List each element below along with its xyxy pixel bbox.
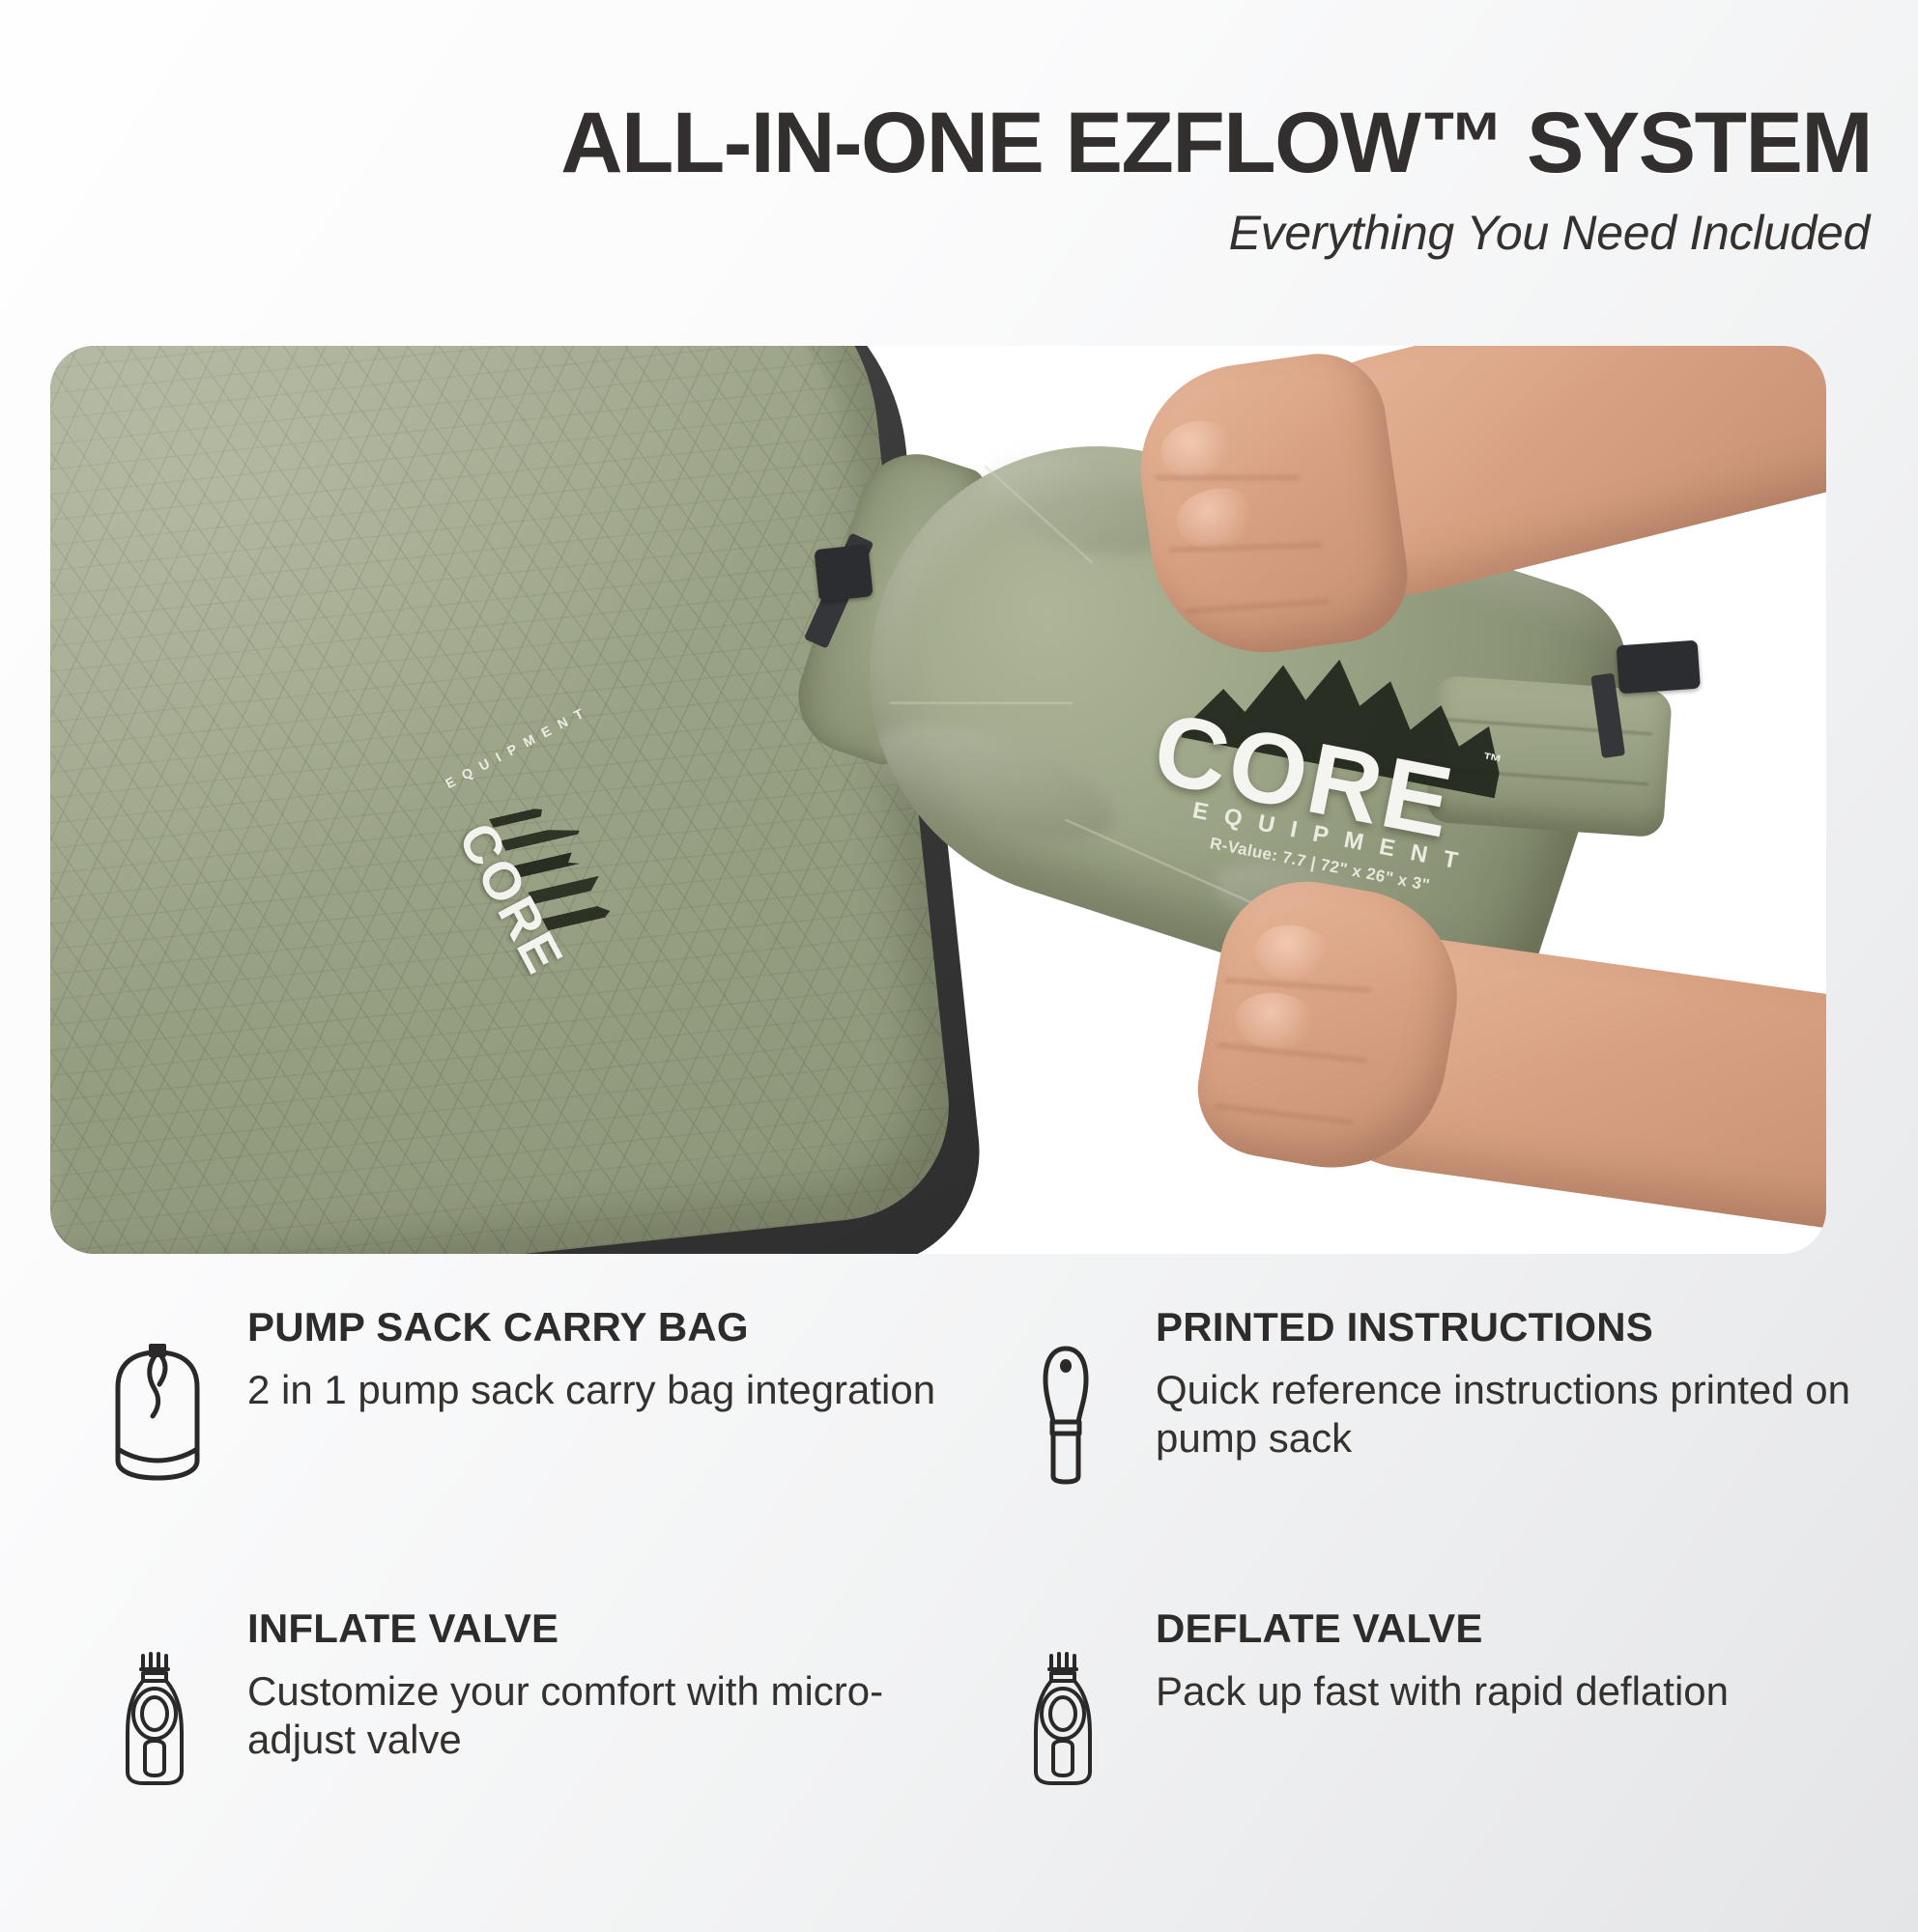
feature-heading: INFLATE VALVE [247,1605,982,1652]
inflate-valve-icon [104,1644,218,1799]
pad-highlight [50,346,915,1206]
feature-heading: PUMP SACK CARRY BAG [247,1304,982,1350]
rolled-sack-icon [1013,1341,1127,1495]
feature-text: DEFLATE VALVE Pack up fast with rapid de… [1156,1605,1890,1716]
sack-seam [889,702,1073,704]
feature-heading: DEFLATE VALVE [1156,1605,1890,1652]
feature-description: 2 in 1 pump sack carry bag integration [247,1366,982,1414]
deflate-valve-icon [1013,1644,1127,1799]
header-banner: ALL-IN-ONE EZFLOW™ SYSTEM Everything You… [0,0,1918,290]
feature-description: Pack up fast with rapid deflation [1156,1667,1890,1716]
feature-heading: PRINTED INSTRUCTIONS [1156,1304,1890,1350]
product-photo-card: CORE EQUIPMENT CORE ™ [50,346,1826,1254]
feature-description: Customize your comfort with micro-adjust… [247,1667,982,1764]
page-subtitle: Everything You Need Included [1229,205,1870,261]
sack-buckle [1617,640,1701,695]
feature-list: PUMP SACK CARRY BAG 2 in 1 pump sack car… [0,1304,1918,1922]
feature-text: INFLATE VALVE Customize your comfort wit… [247,1605,982,1764]
page-title: ALL-IN-ONE EZFLOW™ SYSTEM [560,93,1872,192]
pump-sack-icon [104,1341,218,1495]
product-photo: CORE EQUIPMENT CORE ™ [50,346,1826,1254]
feature-text: PUMP SACK CARRY BAG 2 in 1 pump sack car… [247,1304,982,1414]
feature-text: PRINTED INSTRUCTIONS Quick reference ins… [1156,1304,1890,1463]
sack-fold [862,702,1128,863]
trademark-symbol: ™ [1480,749,1503,774]
feature-description: Quick reference instructions printed on … [1156,1366,1890,1463]
sack-buckle [814,544,873,602]
